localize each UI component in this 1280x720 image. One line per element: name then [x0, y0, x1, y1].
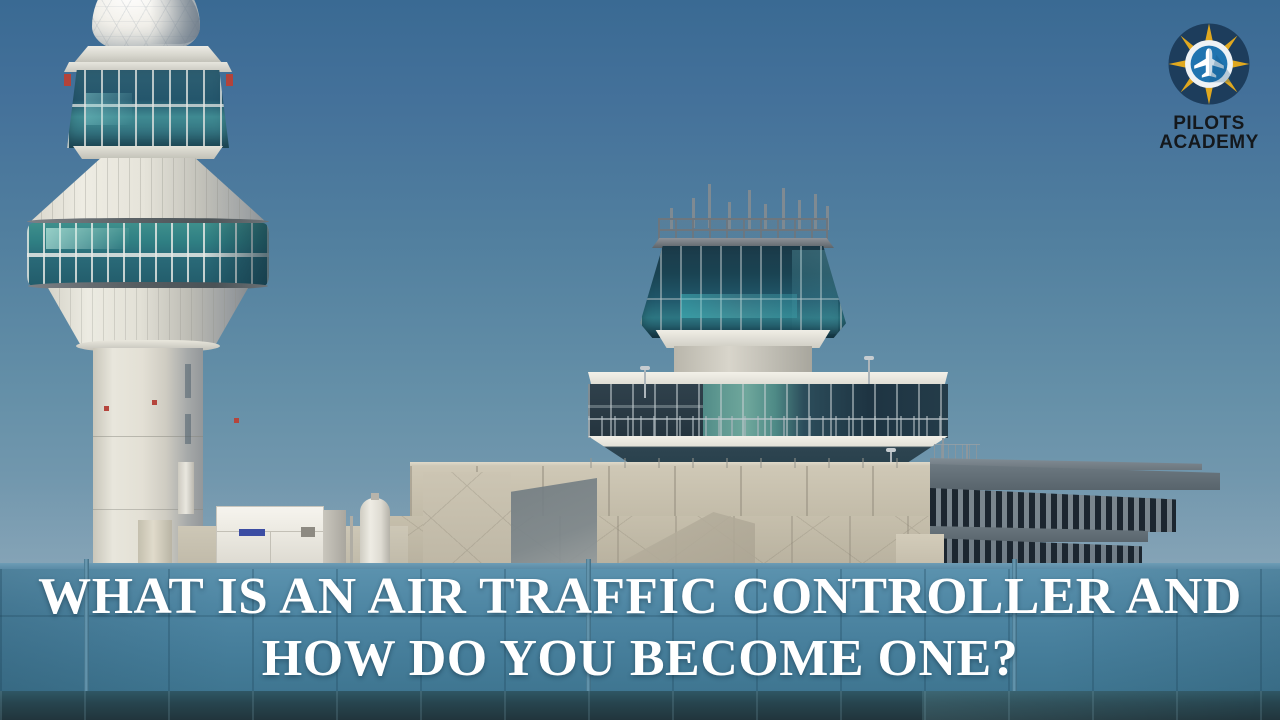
brand-name-line1: PILOTS: [1154, 114, 1264, 133]
terminal-building: [385, 466, 945, 576]
tower-cab-windows: [67, 70, 229, 148]
brand-logo[interactable]: PILOTS ACADEMY: [1154, 18, 1264, 152]
page-title: WHAT IS AN AIR TRAFFIC CONTROLLER AND HO…: [0, 566, 1280, 690]
hvac-brand-mark: [239, 529, 265, 536]
brand-name: PILOTS ACADEMY: [1154, 114, 1264, 152]
wall-glazed-band: [0, 691, 1280, 720]
deck-railing: [588, 416, 948, 438]
beacon-light: [64, 74, 71, 86]
rooftop-hvac-unit: [216, 506, 324, 568]
page-title-line-2: HOW DO YOU BECOME ONE?: [0, 628, 1280, 690]
ribbon-windows: [930, 488, 1176, 532]
hero-banner: PILOTS ACADEMY WHAT IS AN AIR TRAFFIC CO…: [0, 0, 1280, 720]
compass-airplane-logo-icon: [1163, 18, 1255, 110]
rooftop-tank: [360, 498, 390, 570]
office-building: [930, 442, 1280, 576]
beacon-light: [226, 74, 233, 86]
page-title-line-1: WHAT IS AN AIR TRAFFIC CONTROLLER AND: [0, 566, 1280, 628]
brand-name-line2: ACADEMY: [1154, 133, 1264, 152]
tower-cab-windows: [640, 246, 846, 338]
tower-gallery-windows: [27, 223, 269, 286]
